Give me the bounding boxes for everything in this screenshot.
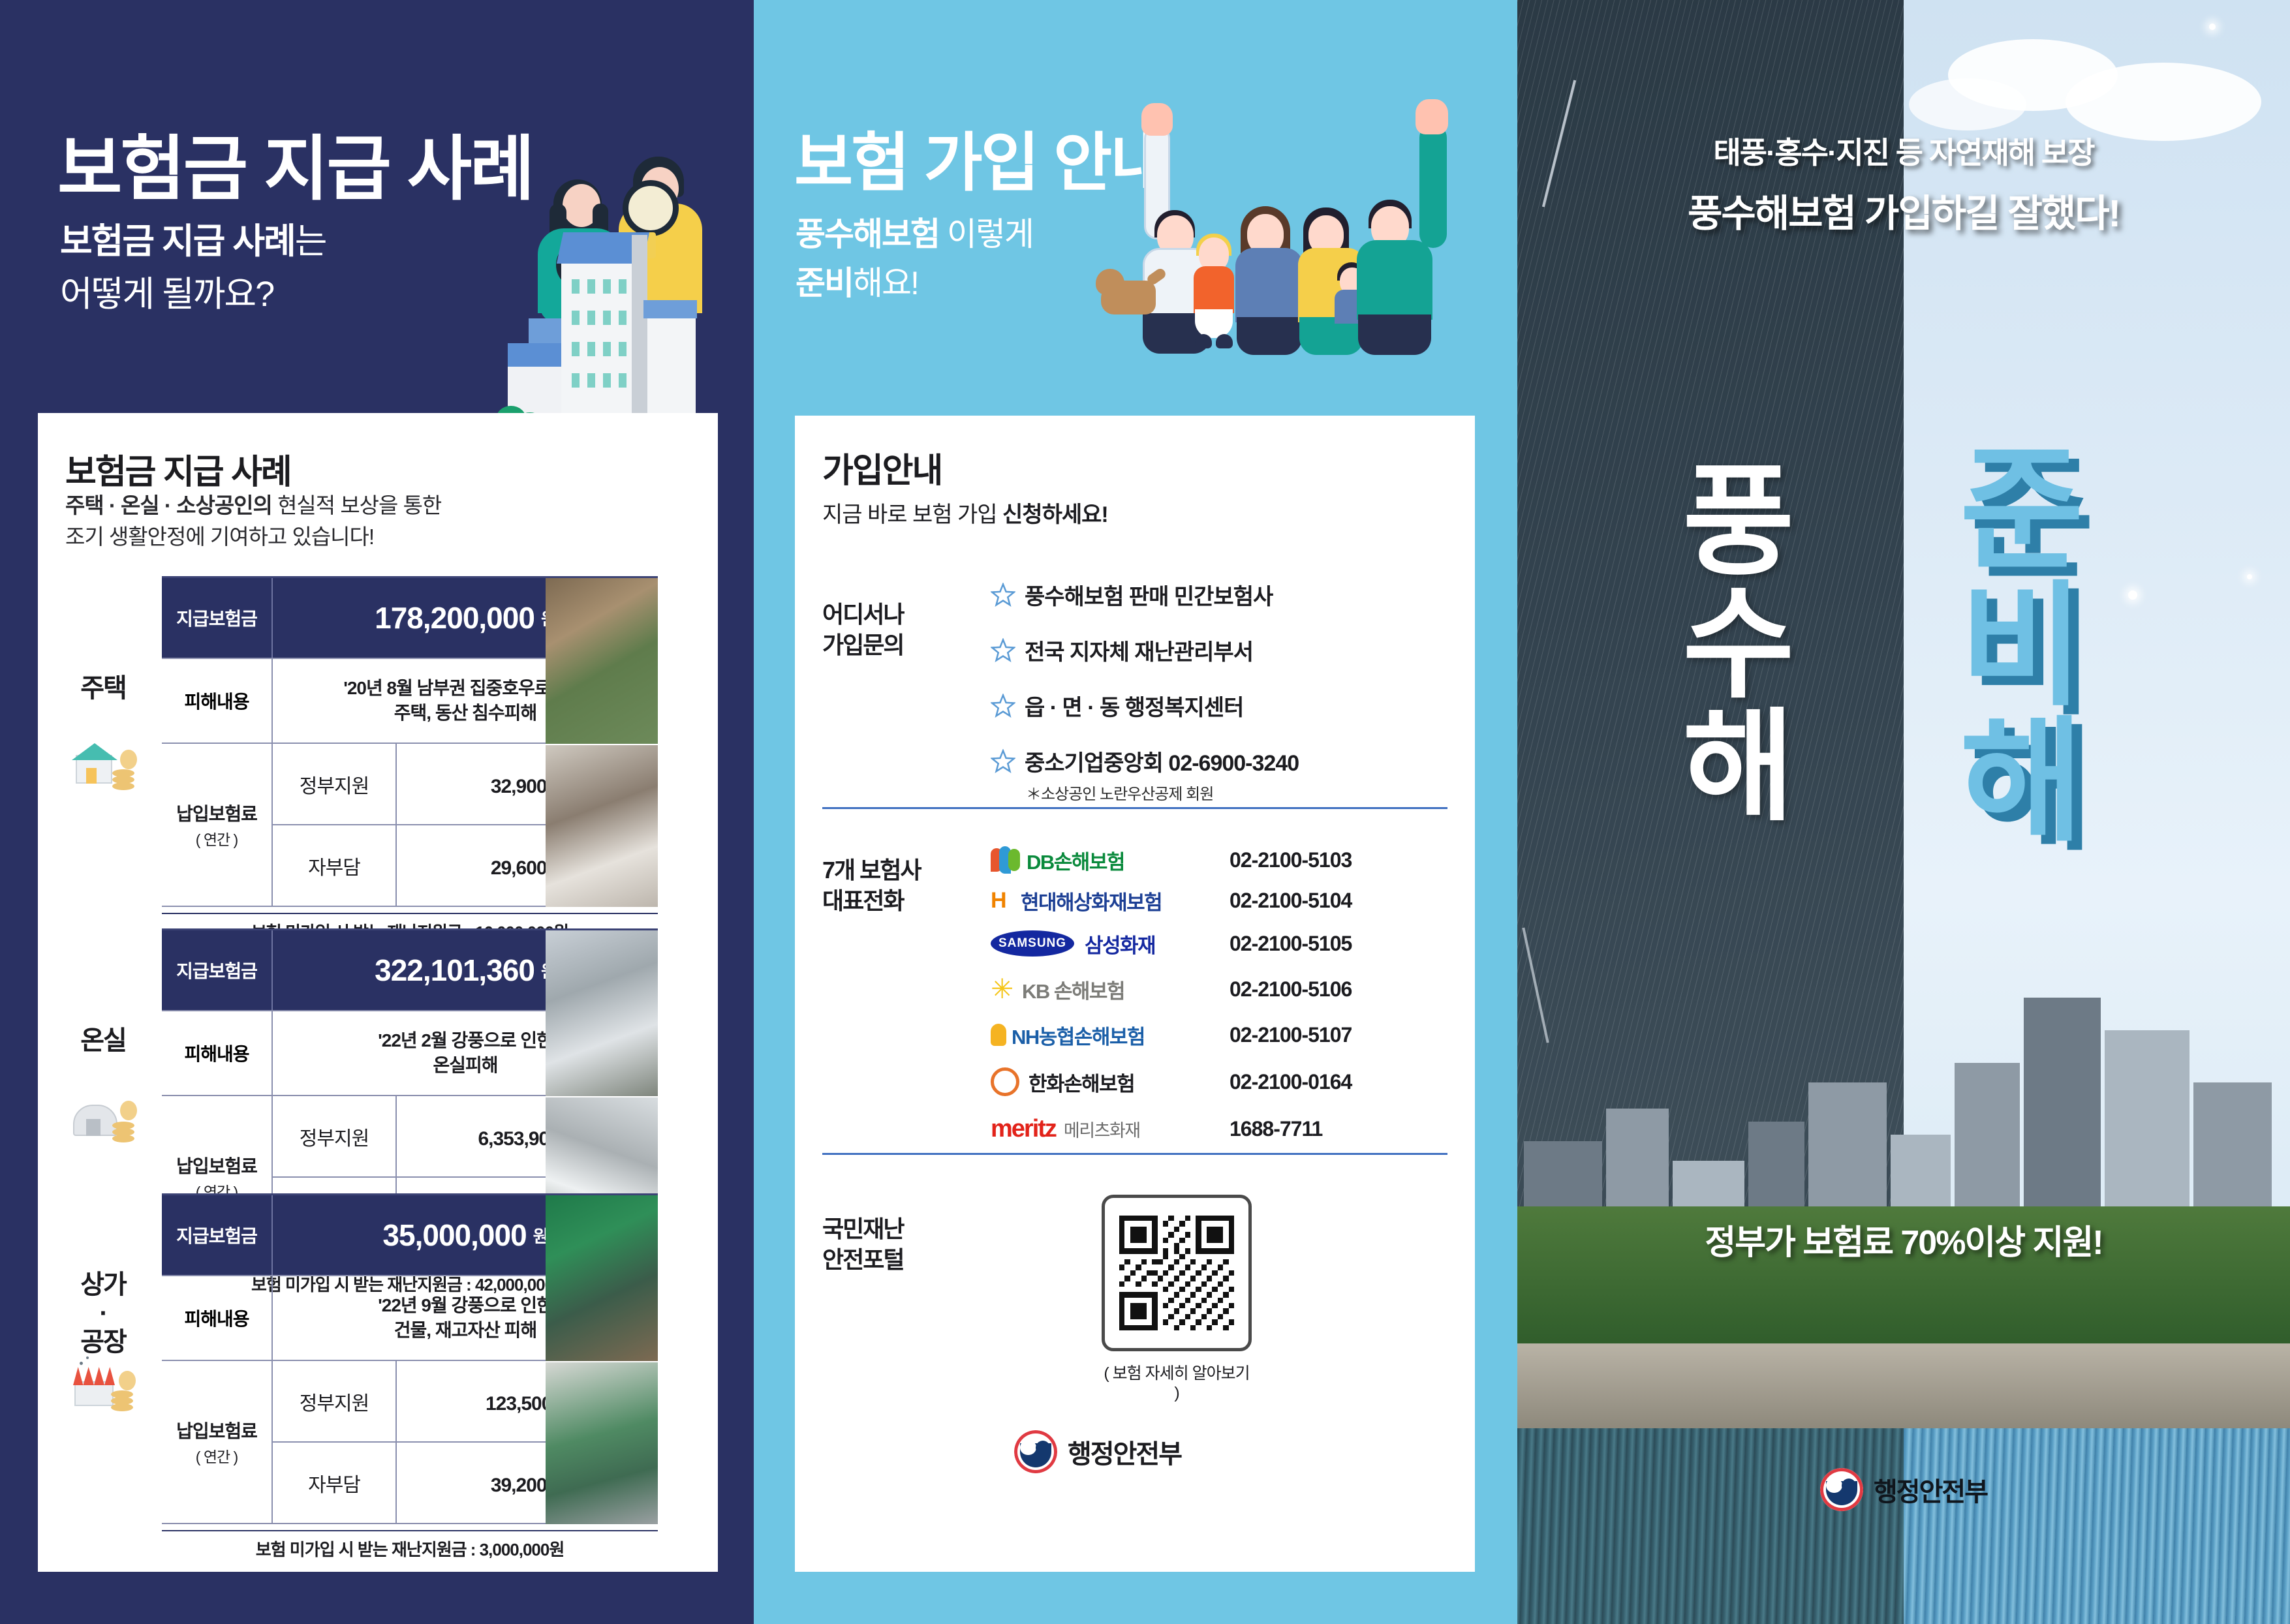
list-item-label: 읍 · 면 · 동 행정복지센터	[1025, 690, 1243, 722]
damage-label: 피해내용	[162, 1276, 273, 1360]
insurer-name: KB 손해보험	[1022, 975, 1124, 1004]
portal-label: 국민재난 안전포털	[822, 1214, 903, 1276]
payout-value: 322,101,360	[375, 953, 534, 988]
insurer-row: 한화손해보험 02-2100-0164	[991, 1058, 1382, 1106]
gov-support-label: 정부지원	[273, 1361, 397, 1441]
card2-sub-text: 지금 바로 보험 가입	[822, 502, 1002, 527]
damage-label: 피해내용	[162, 659, 273, 743]
ministry-logo-block: 행정안전부	[1517, 1468, 2290, 1511]
divider	[822, 1153, 1447, 1155]
family-illustration	[1074, 85, 1504, 359]
db-logo: DB손해보험	[991, 846, 1213, 875]
house-coins-icon	[72, 739, 144, 798]
gov-support-label: 정부지원	[273, 1096, 397, 1176]
building-window	[619, 342, 627, 356]
premium-period-text: ( 연간 )	[196, 827, 238, 850]
where-to-enroll-list: 풍수해보험 판매 민간보험사 전국 지자체 재난관리부서 읍 · 면 · 동 행…	[991, 579, 1299, 804]
building-window	[572, 342, 580, 356]
insurer-phone: 02-2100-5104	[1213, 889, 1382, 913]
panel3-headline-big: 풍수해보험 가입하길 잘했다!	[1517, 183, 2290, 237]
card1-sub-bold: 주택 · 온실 · 소상공인의	[65, 493, 272, 517]
building-window	[587, 279, 595, 294]
panel-enrollment-guide: 보험 가입 안내 풍수해보험 이렇게 준비해요!	[754, 0, 1517, 1624]
panel1-hero-sub-bold: 보험금 지급 사례	[60, 222, 295, 261]
building-window	[603, 279, 611, 294]
card1-sub-tail: 현실적 보상을 통한	[272, 493, 441, 517]
ministry-logo-block: 행정안전부	[1014, 1430, 1181, 1473]
nh-logo: NH농협손해보험	[991, 1020, 1213, 1050]
sparkle-icon	[2128, 590, 2137, 600]
case-name-label: 상가 · 공장	[51, 1270, 155, 1356]
water-calm	[1904, 1428, 2290, 1624]
star-icon	[991, 638, 1015, 663]
insurer-name: 삼성화재	[1085, 929, 1155, 958]
insurer-phone: 02-2100-0164	[1213, 1070, 1382, 1094]
taegeuk-icon	[1820, 1468, 1863, 1511]
case-table: 지급보험금 35,000,000원 피해내용 '22년 9월 강풍으로 인한 건…	[162, 1193, 658, 1524]
panel2-hero-sub-tail: 이렇게	[939, 216, 1033, 253]
building-window	[587, 311, 595, 325]
list-item-label: 전국 지자체 재난관리부서	[1025, 634, 1253, 666]
panel2-hero-sub2-tail: 해요!	[853, 265, 918, 301]
family-man-hand	[1416, 99, 1448, 134]
case-block: 상가 · 공장 지급보험금 35,000,000원	[38, 1193, 718, 1549]
panel-payout-cases: 보험금 지급 사례 보험금 지급 사례는 어떻게 될까요?	[0, 0, 754, 1624]
card1-sub-line2: 조기 생활안정에 기여하고 있습니다!	[65, 521, 441, 553]
payout-label: 지급보험금	[162, 578, 273, 658]
insurer-name: 메리츠화재	[1064, 1116, 1140, 1142]
ministry-name: 행정안전부	[1068, 1433, 1181, 1471]
greenhouse-coins-icon	[72, 1092, 144, 1150]
vertical-text-right: 준비해	[1943, 438, 2077, 846]
premium-label: 납입보험료 ( 연간 )	[162, 744, 273, 906]
family-kid1-shoe	[1216, 334, 1233, 348]
insurer-phone: 02-2100-5106	[1213, 977, 1382, 1002]
star-icon	[991, 694, 1015, 718]
hanwha-logo: 한화손해보험	[991, 1067, 1213, 1097]
qr-caption: ( 보험 자세히 알아보기 )	[1102, 1360, 1252, 1403]
family-mom-body	[1235, 248, 1303, 322]
ministry-name: 행정안전부	[1874, 1471, 1987, 1509]
inspectors-buildings-illustration	[457, 157, 744, 431]
damage-photo	[546, 578, 658, 744]
magnifier-right-icon	[623, 180, 679, 236]
family-kid1-body	[1194, 266, 1234, 313]
insurer-name: DB손해보험	[1027, 846, 1124, 875]
sparkle-icon	[2209, 23, 2216, 30]
building-window	[572, 311, 580, 325]
panel2-hero-sub2-bold: 준비	[796, 265, 853, 301]
meritz-logo: meritz 메리츠화재	[991, 1115, 1213, 1143]
list-item-label: 중소기업중앙회 02-6900-3240	[1025, 745, 1299, 777]
insurer-phone: 02-2100-5105	[1213, 932, 1382, 956]
divider	[822, 807, 1447, 809]
water-stormy	[1517, 1428, 1904, 1624]
family-kid1-shoe	[1195, 334, 1212, 348]
payout-cases-card: 보험금 지급 사례 주택 · 온실 · 소상공인의 현실적 보상을 통한 조기 …	[38, 413, 718, 1572]
insurer-name: 현대해상화재보험	[1021, 886, 1162, 915]
vertical-text-left: 풍수해	[1666, 457, 1787, 825]
list-item-label: 풍수해보험 판매 민간보험사	[1025, 579, 1273, 611]
building-small-roof	[508, 343, 569, 367]
premium-label-text: 납입보험료	[176, 800, 257, 826]
self-pay-label: 자부담	[273, 1443, 397, 1523]
building-window	[603, 342, 611, 356]
panel3-headline: 태풍·홍수·지진 등 자연재해 보장 풍수해보험 가입하길 잘했다!	[1517, 129, 2290, 237]
card2-subtitle: 지금 바로 보험 가입 신청하세요!	[822, 497, 1108, 529]
self-pay-label: 자부담	[273, 825, 397, 906]
panel3-footer-text: 정부가 보험료 70%이상 지원!	[1517, 1215, 2290, 1264]
list-item: 풍수해보험 판매 민간보험사	[991, 579, 1299, 611]
list-item: 전국 지자체 재난관리부서	[991, 634, 1299, 666]
enrollment-card: 가입안내 지금 바로 보험 가입 신청하세요! 어디서나 가입문의 풍수해보험 …	[795, 416, 1475, 1572]
insurer-row: SAMSUNG 삼성화재 02-2100-5105	[991, 921, 1382, 966]
family-kid1-legs	[1195, 309, 1233, 338]
case-block: 주택 지급보험금 178,200,000원	[38, 576, 718, 932]
card2-title: 가입안내	[822, 443, 942, 492]
family-dad-hand	[1141, 103, 1173, 136]
card1-title: 보험금 지급 사례	[65, 444, 291, 493]
building-tall-roof	[643, 300, 697, 318]
sparkle-icon	[2247, 574, 2252, 579]
building-window	[619, 279, 627, 294]
panel-hero-photo: 태풍·홍수·지진 등 자연재해 보장 풍수해보험 가입하길 잘했다! 풍수해 준…	[1517, 0, 2290, 1624]
hyundai-logo: H 현대해상화재보험	[991, 886, 1213, 915]
premium-label-text: 납입보험료	[176, 1417, 257, 1443]
payout-value: 178,200,000	[375, 600, 534, 636]
building-window	[587, 373, 595, 388]
brochure-page: 보험금 지급 사례 보험금 지급 사례는 어떻게 될까요?	[0, 0, 2290, 1624]
boardwalk	[1517, 1343, 2290, 1428]
factory-coins-icon	[72, 1362, 144, 1420]
qr-code[interactable]	[1119, 1216, 1234, 1330]
building-window	[619, 311, 627, 325]
building-window	[603, 373, 611, 388]
family-man-legs	[1358, 314, 1431, 355]
damage-photo	[546, 930, 658, 1096]
insurer-phone: 02-2100-5107	[1213, 1023, 1382, 1047]
list-item: 중소기업중앙회 02-6900-3240	[991, 745, 1299, 777]
where-to-enroll-label: 어디서나 가입문의	[822, 600, 903, 661]
payout-value: 35,000,000	[382, 1218, 526, 1253]
family-man-arm	[1419, 124, 1447, 248]
family-mom-legs	[1237, 317, 1302, 355]
premium-period-text: ( 연간 )	[196, 1445, 238, 1467]
building-main-side	[632, 235, 647, 432]
where-footnote: ＊소상공인 노란우산공제 회원	[1026, 781, 1299, 804]
dog-head-icon	[1096, 269, 1124, 295]
gov-support-label: 정부지원	[273, 744, 397, 824]
payout-label: 지급보험금	[162, 930, 273, 1010]
case-table: 지급보험금 178,200,000원 피해내용 '20년 8월 남부권 집중호우…	[162, 576, 658, 907]
damage-photo	[546, 745, 658, 907]
damage-label: 피해내용	[162, 1011, 273, 1095]
card1-subtitle: 주택 · 온실 · 소상공인의 현실적 보상을 통한 조기 생활안정에 기여하고…	[65, 490, 441, 553]
insurer-phone: 1688-7711	[1213, 1117, 1382, 1141]
case-note: 보험 미가입 시 받는 재난지원금 : 3,000,000원	[162, 1530, 658, 1561]
family-man-body	[1357, 240, 1432, 320]
damage-photo	[546, 1362, 658, 1524]
kb-logo: ✳ KB 손해보험	[991, 975, 1213, 1004]
damage-photo	[546, 1195, 658, 1361]
insurers-label: 7개 보험사 대표전화	[822, 855, 921, 917]
payout-label: 지급보험금	[162, 1195, 273, 1275]
taegeuk-icon	[1014, 1430, 1057, 1473]
insurer-row: meritz 메리츠화재 1688-7711	[991, 1106, 1382, 1152]
qr-block: ( 보험 자세히 알아보기 )	[1102, 1195, 1252, 1403]
list-item: 읍 · 면 · 동 행정복지센터	[991, 690, 1299, 722]
building-window	[587, 342, 595, 356]
panel2-hero-subtitle: 풍수해보험 이렇게 준비해요!	[796, 210, 1033, 308]
case-name-label: 온실	[51, 1026, 155, 1055]
panel1-hero-sub-tail: 는	[295, 222, 326, 261]
insurer-phone: 02-2100-5103	[1213, 848, 1382, 872]
building-window	[572, 373, 580, 388]
premium-label: 납입보험료 ( 연간 )	[162, 1361, 273, 1523]
insurer-row: H 현대해상화재보험 02-2100-5104	[991, 880, 1382, 921]
case-name-label: 주택	[51, 674, 155, 703]
insurer-name: NH농협손해보험	[1012, 1020, 1145, 1050]
insurer-row: ✳ KB 손해보험 02-2100-5106	[991, 966, 1382, 1012]
building-window	[603, 311, 611, 325]
premium-label-text: 납입보험료	[176, 1152, 257, 1178]
insurer-row: DB손해보험 02-2100-5103	[991, 840, 1382, 880]
star-icon	[991, 749, 1015, 774]
cloud-icon	[1909, 78, 2026, 130]
insurer-name: 한화손해보험	[1029, 1067, 1134, 1097]
panel3-headline-small: 태풍·홍수·지진 등 자연재해 보장	[1517, 129, 2290, 172]
building-window	[572, 279, 580, 294]
panel1-hero-sub-line2: 어떻게 될까요?	[60, 268, 326, 321]
card2-sub-bold: 신청하세요!	[1002, 502, 1108, 527]
samsung-logo: SAMSUNG 삼성화재	[991, 929, 1213, 958]
qr-frame[interactable]	[1102, 1195, 1252, 1351]
insurer-row: NH농협손해보험 02-2100-5107	[991, 1012, 1382, 1058]
building-window	[619, 373, 627, 388]
panel2-hero-sub-bold: 풍수해보험	[796, 216, 939, 253]
panel1-hero-subtitle: 보험금 지급 사례는 어떻게 될까요?	[60, 215, 326, 321]
insurers-list: DB손해보험 02-2100-5103 H 현대해상화재보험 02-2100-5…	[991, 840, 1382, 1152]
star-icon	[991, 583, 1015, 607]
